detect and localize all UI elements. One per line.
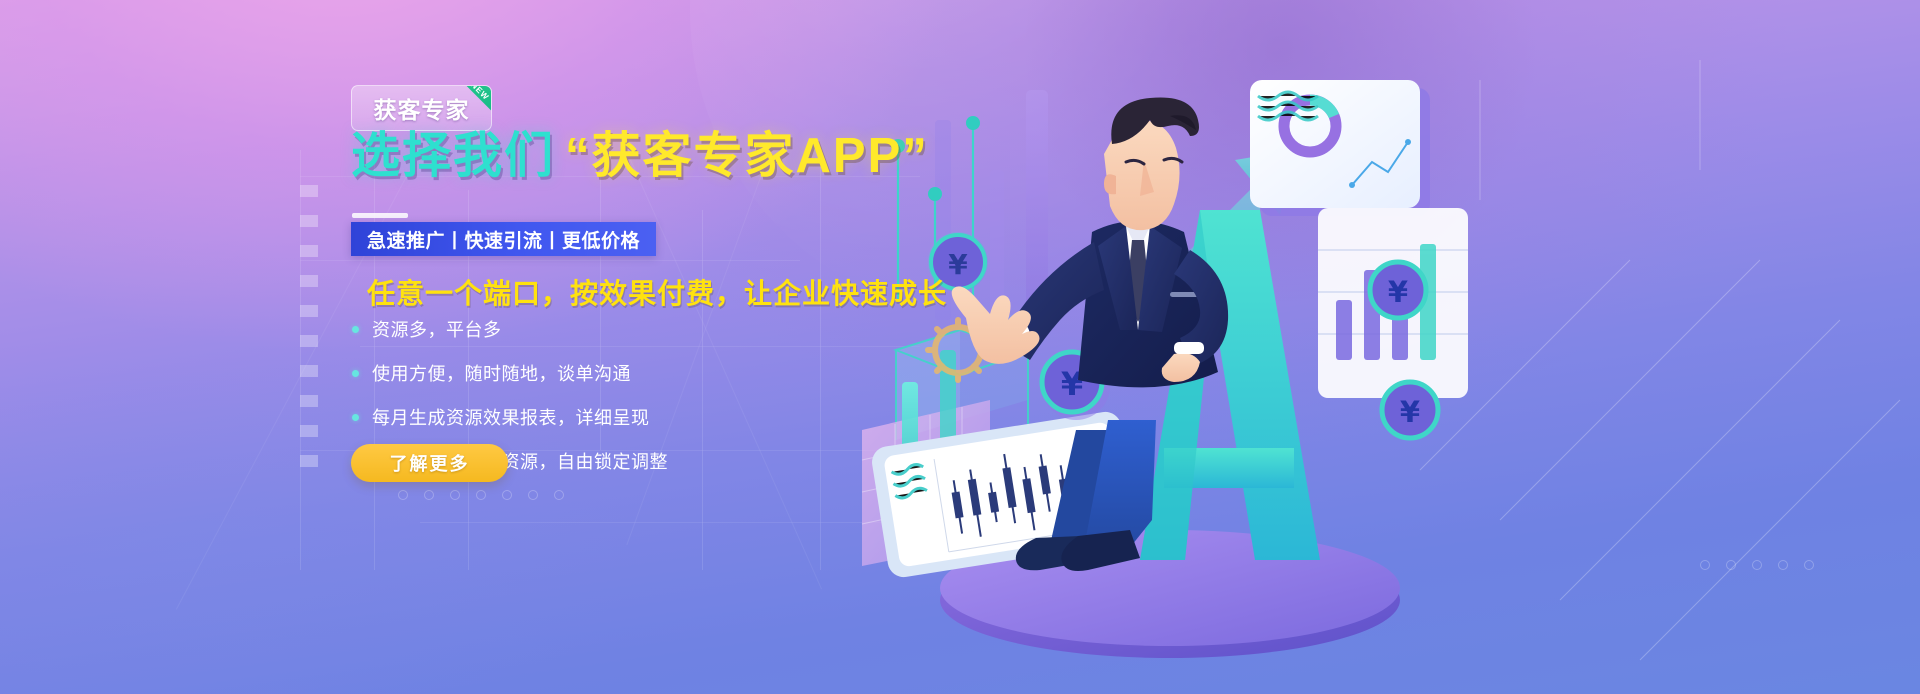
svg-text:¥: ¥ [1400,395,1420,429]
yen-coin-right-top: ¥ [1370,262,1426,318]
bullet-dot-icon [352,370,359,377]
product-badge-label: 获客专家 [374,91,470,125]
list-item-label: 资源多，平台多 [372,316,502,342]
feature-tag-bar: 急速推广丨快速引流丨更低价格 [351,222,656,256]
yen-coin-right-bottom: ¥ [1382,382,1438,438]
learn-more-button[interactable]: 了解更多 [351,444,508,482]
headline-part-one: 选择我们 [351,129,555,183]
svg-text:¥: ¥ [1388,275,1408,309]
learn-more-button-label: 了解更多 [390,450,470,476]
promo-banner: ¥ ¥ ¥ ¥ [0,0,1920,694]
tech-dash-column [300,185,318,485]
product-badge: 获客专家 NEW [351,85,492,131]
list-item: 使用方便，随时随地，谈单沟通 [352,357,952,389]
list-item: 每月生成资源效果报表，详细呈现 [352,401,952,433]
list-item-label: 每月生成资源效果报表，详细呈现 [372,404,650,430]
banner-content: 获客专家 NEW 选择我们“获客专家APP” 急速推广丨快速引流丨更低价格 任意… [351,0,971,694]
page-title: 选择我们“获客专家APP” [351,128,929,184]
dot-row-decoration-right [1700,560,1814,568]
bullet-dot-icon [352,326,359,333]
headline-part-two: “获客专家APP” [565,129,929,183]
device-card-top [1250,80,1430,216]
title-divider [352,213,408,218]
feature-tag-bar-label: 急速推广丨快速引流丨更低价格 [367,226,640,253]
subtitle: 任意一个端口，按效果付费，让企业快速成长 [367,272,947,312]
new-ribbon-label: NEW [469,85,491,102]
list-item: 资源多，平台多 [352,313,952,345]
bullet-dot-icon [352,414,359,421]
list-item-label: 使用方便，随时随地，谈单沟通 [372,360,631,386]
